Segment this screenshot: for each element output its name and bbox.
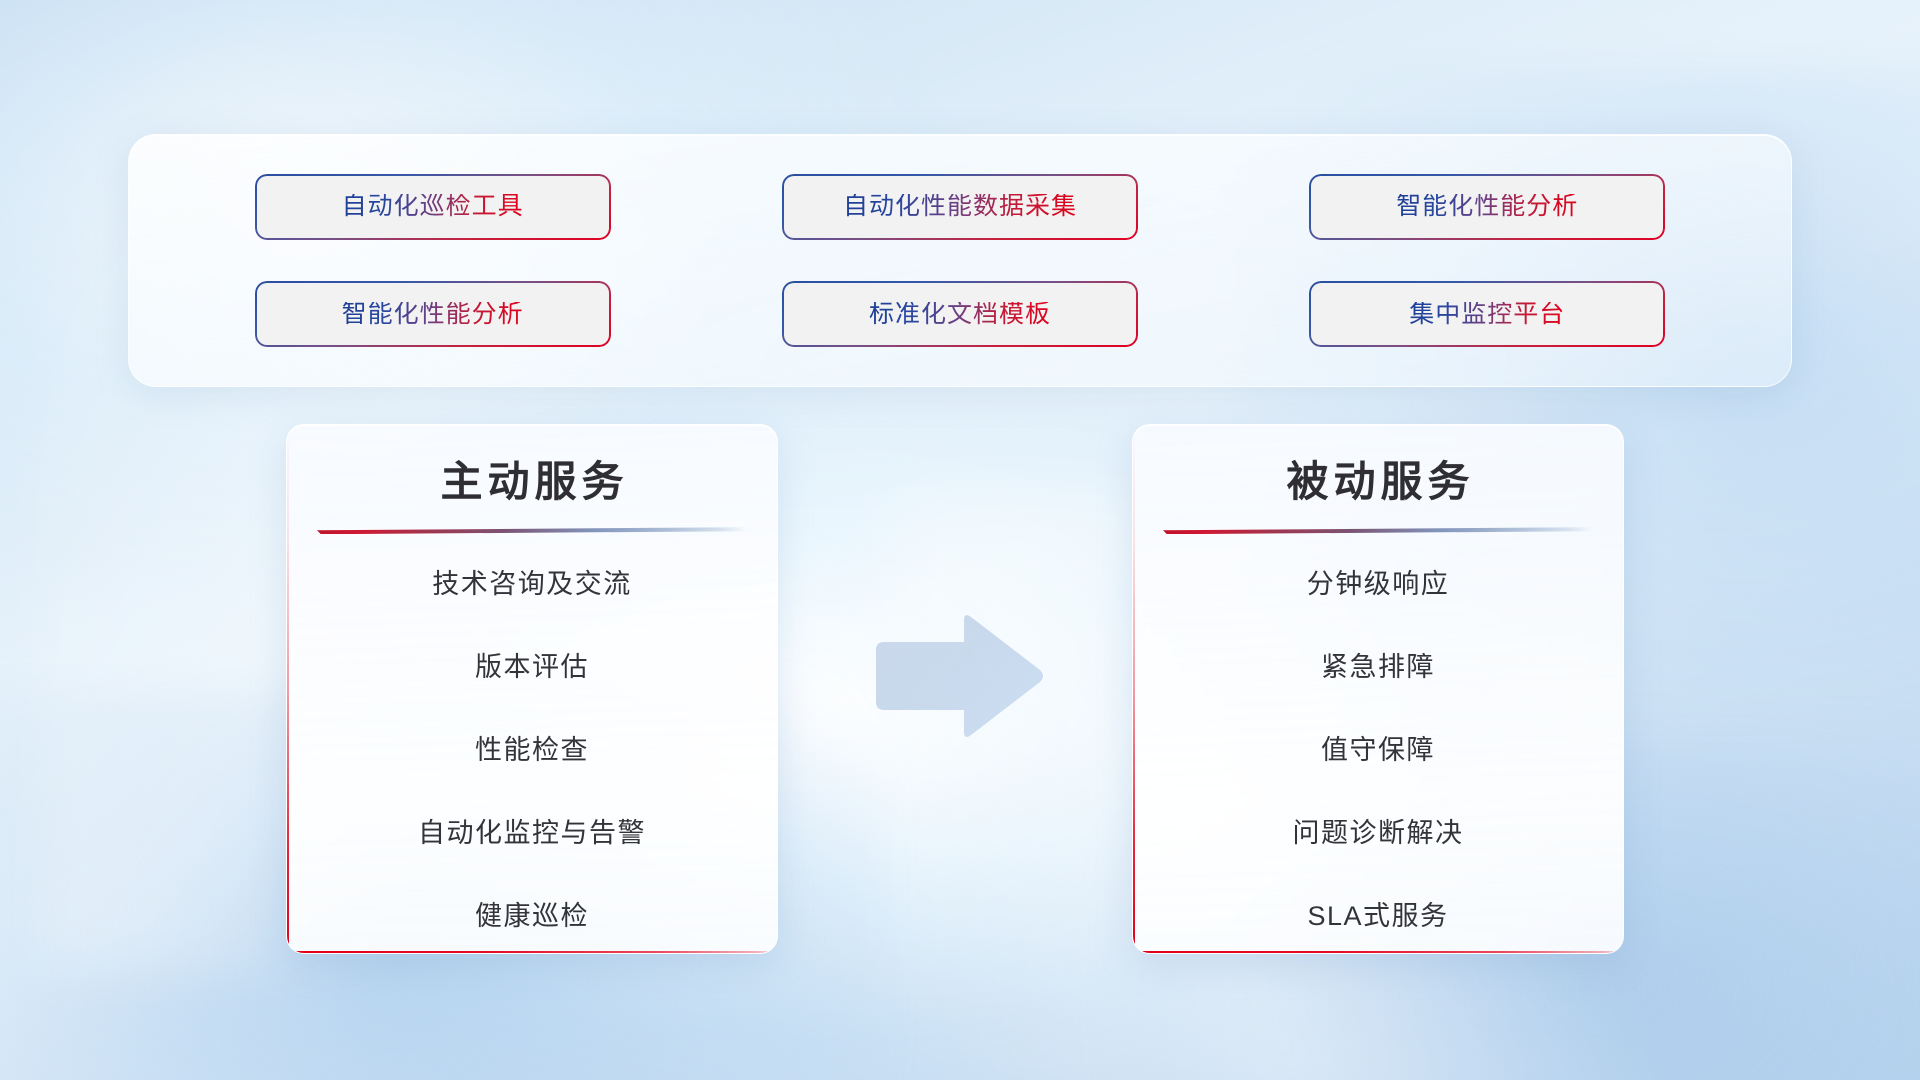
capability-pill-label: 自动化性能数据采集: [843, 194, 1077, 219]
capability-pill-1[interactable]: 自动化巡检工具: [255, 174, 611, 240]
service-list-item: 健康巡检: [287, 903, 777, 930]
service-list-item: 性能检查: [287, 737, 777, 764]
service-list-item: 值守保障: [1133, 737, 1623, 764]
capability-pill-label: 自动化巡检工具: [342, 194, 524, 219]
service-list-item: SLA式服务: [1133, 903, 1623, 930]
capability-pill-label: 集中监控平台: [1409, 302, 1565, 327]
capability-pill-panel: 自动化巡检工具 自动化性能数据采集 智能化性能分析 智能化性能分析 标准化文档模…: [128, 134, 1792, 387]
service-item-list: 技术咨询及交流 版本评估 性能检查 自动化监控与告警 健康巡检: [287, 571, 777, 930]
divider-gradient-bar: [1163, 527, 1593, 534]
service-item-list: 分钟级响应 紧急排障 值守保障 问题诊断解决 SLA式服务: [1133, 571, 1623, 930]
service-card-divider: [317, 527, 747, 535]
service-cards-row: 主动服务 技术咨询及交流 版本评估 性能检查 自动化监控与告警 健康巡检 被动服…: [0, 424, 1920, 954]
capability-pill-label: 智能化性能分析: [1396, 194, 1578, 219]
capability-pill-label: 标准化文档模板: [869, 302, 1051, 327]
capability-pill-3[interactable]: 智能化性能分析: [1309, 174, 1665, 240]
service-card-reactive[interactable]: 被动服务 分钟级响应 紧急排障 值守保障 问题诊断解决 SLA式服务: [1132, 424, 1624, 954]
service-list-item: 紧急排障: [1133, 654, 1623, 681]
capability-pill-5[interactable]: 标准化文档模板: [782, 281, 1138, 347]
service-card-title: 被动服务: [1133, 459, 1623, 505]
service-list-item: 问题诊断解决: [1133, 820, 1623, 847]
service-card-title: 主动服务: [287, 459, 777, 505]
capability-pill-4[interactable]: 智能化性能分析: [255, 281, 611, 347]
capability-pill-2[interactable]: 自动化性能数据采集: [782, 174, 1138, 240]
service-list-item: 自动化监控与告警: [287, 820, 777, 847]
service-list-item: 版本评估: [287, 654, 777, 681]
service-list-item: 分钟级响应: [1133, 571, 1623, 598]
service-card-divider: [1163, 527, 1593, 535]
service-list-item: 技术咨询及交流: [287, 571, 777, 598]
divider-gradient-bar: [317, 527, 747, 534]
service-card-proactive[interactable]: 主动服务 技术咨询及交流 版本评估 性能检查 自动化监控与告警 健康巡检: [286, 424, 778, 954]
capability-pill-6[interactable]: 集中监控平台: [1309, 281, 1665, 347]
capability-pill-label: 智能化性能分析: [342, 302, 524, 327]
